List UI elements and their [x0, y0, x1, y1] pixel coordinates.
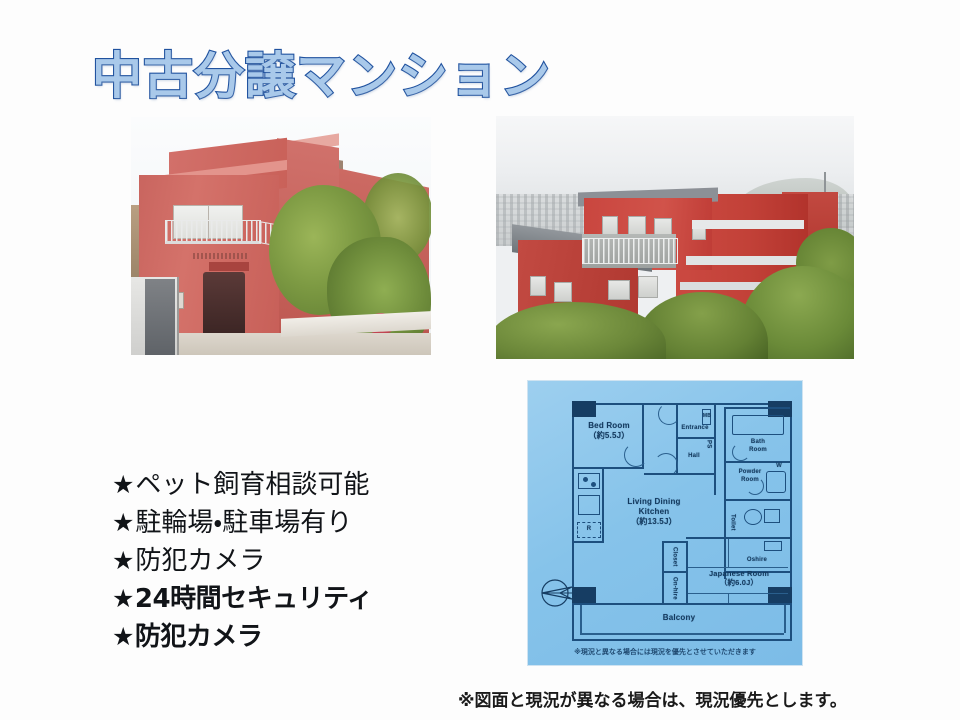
wall-kitchen-counter	[602, 469, 604, 541]
room-size-bed-room: （約5.5J）	[574, 431, 644, 441]
feature-list: ★ ペット飼育相談可能 ★ 駐輪場・駐車場有り ★ 防犯カメラ ★ 24時間セキ…	[112, 466, 442, 656]
room-label-oshire: Oshire	[726, 557, 788, 565]
wall-powder-bottom	[724, 499, 790, 501]
list-item: ★ ペット飼育相談可能	[112, 466, 442, 504]
door-swing-entrance	[658, 403, 680, 425]
list-item: ★ 駐輪場・駐車場有り	[112, 504, 442, 542]
balcony-band-floor3	[692, 220, 804, 229]
burner-icon	[583, 477, 588, 482]
page-title: 中古分譲マンション	[92, 36, 551, 108]
balcony-edge	[580, 633, 784, 635]
floor-plan-disclaimer: ※現況と異なる場合には現況を優先とさせていただきます	[528, 647, 802, 657]
star-icon: ★	[112, 542, 134, 580]
room-label-balcony: Balcony	[624, 613, 734, 623]
wall-kitchen-end	[574, 541, 604, 543]
garage-shed-door	[145, 279, 175, 355]
wall-outer-right	[790, 403, 792, 641]
wall-japanese-top	[686, 537, 790, 539]
shelf-icon	[764, 541, 782, 551]
compass-north-label: N	[573, 593, 577, 599]
door-swing-bath	[732, 443, 750, 461]
list-item-label: 防犯カメラ	[135, 542, 265, 580]
refrigerator-label: R	[577, 526, 601, 534]
wall-outer-top	[572, 403, 792, 405]
balcony-edge-left	[580, 605, 582, 633]
floor-plan: Balcony Bed Room （約5.5J） Living Dining K…	[527, 380, 803, 666]
compass-north-icon: N	[538, 573, 578, 613]
balcony-band-floor2	[686, 256, 804, 265]
photo-exterior-front	[131, 117, 431, 355]
window	[608, 280, 630, 300]
sink-icon	[578, 495, 600, 515]
room-label-bed-room: Bed Room	[574, 421, 644, 431]
wall-entrance-right	[714, 403, 716, 495]
wall-balcony-inner	[572, 603, 792, 605]
list-item-label: 防犯カメラ	[135, 618, 263, 656]
star-icon: ★	[112, 504, 134, 542]
list-item: ★ 防犯カメラ	[112, 618, 442, 656]
toilet-tank-icon	[764, 509, 780, 523]
footer-disclaimer: ※図面と現況が異なる場合は、現況優先とします。	[458, 686, 847, 711]
photo-aerial-view	[496, 116, 854, 359]
room-size-japanese-room: （約6.0J）	[688, 578, 790, 588]
list-item: ★ 防犯カメラ	[112, 542, 442, 580]
meter-label: MB	[700, 413, 714, 421]
room-label-ldk-line1: Living Dining	[604, 497, 704, 507]
balcony-railing	[165, 220, 261, 244]
room-label-onhire: On-hire	[670, 574, 678, 602]
window	[638, 276, 658, 298]
wall-hall-bottom	[644, 473, 714, 475]
room-size-ldk: （約13.5J）	[604, 517, 704, 527]
list-item-label: ペット飼育相談可能	[135, 466, 369, 504]
washer-label: W	[772, 463, 786, 471]
bathtub-icon	[732, 415, 784, 435]
entrance-header	[209, 262, 249, 271]
window	[554, 282, 572, 302]
wall-outer-bottom	[572, 639, 792, 641]
hedge-foreground	[496, 302, 666, 359]
building-name-sign	[193, 253, 249, 259]
tatami-line-v1	[728, 539, 729, 567]
tatami-line-v2	[728, 593, 729, 603]
vanity-basin-icon	[766, 471, 786, 493]
toilet-bowl-icon	[744, 509, 762, 525]
star-icon: ★	[112, 580, 134, 618]
wall-bath-top	[724, 407, 790, 409]
list-item-label: 24時間セキュリティ	[135, 580, 373, 618]
door-swing-bedroom	[624, 443, 648, 467]
room-label-toilet: Toilet	[728, 505, 736, 539]
list-item-label: 駐輪場・駐車場有り	[135, 504, 352, 542]
star-icon: ★	[112, 618, 134, 656]
wall-bedroom-bottom	[572, 467, 644, 469]
wall-closet-top	[662, 541, 686, 543]
roof-terrace-railing	[582, 238, 678, 264]
room-label-ldk-line2: Kitchen	[604, 507, 704, 517]
pipe-space-label: PS	[704, 427, 712, 461]
balcony-edge-right	[784, 605, 786, 633]
wall-wetzone-left	[724, 407, 726, 579]
tatami-line-h2	[688, 593, 788, 594]
column-nw	[572, 401, 596, 417]
door-swing-powder	[746, 477, 764, 495]
room-label-closet: Closet	[670, 544, 678, 570]
list-item: ★ 24時間セキュリティ	[112, 580, 442, 618]
star-icon: ★	[112, 466, 134, 504]
burner-icon	[591, 482, 596, 487]
wall-closet-mid	[662, 571, 686, 573]
stove-icon	[578, 473, 600, 489]
window	[530, 276, 546, 296]
tatami-line-h1	[688, 567, 788, 568]
